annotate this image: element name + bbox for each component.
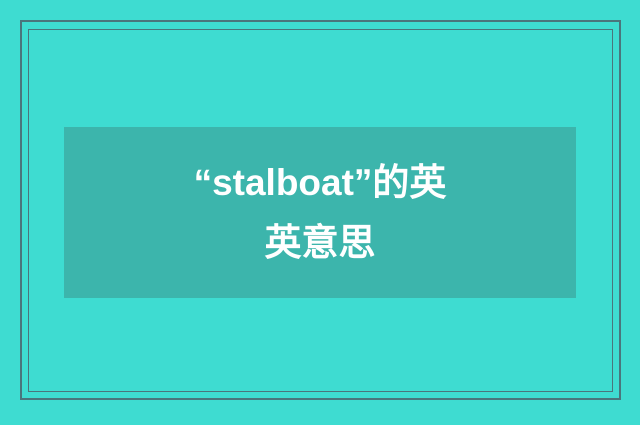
- headline-text: “stalboat”的英英意思: [190, 153, 450, 273]
- graphic-card: “stalboat”的英英意思: [0, 0, 640, 425]
- content-panel: “stalboat”的英英意思: [64, 127, 576, 298]
